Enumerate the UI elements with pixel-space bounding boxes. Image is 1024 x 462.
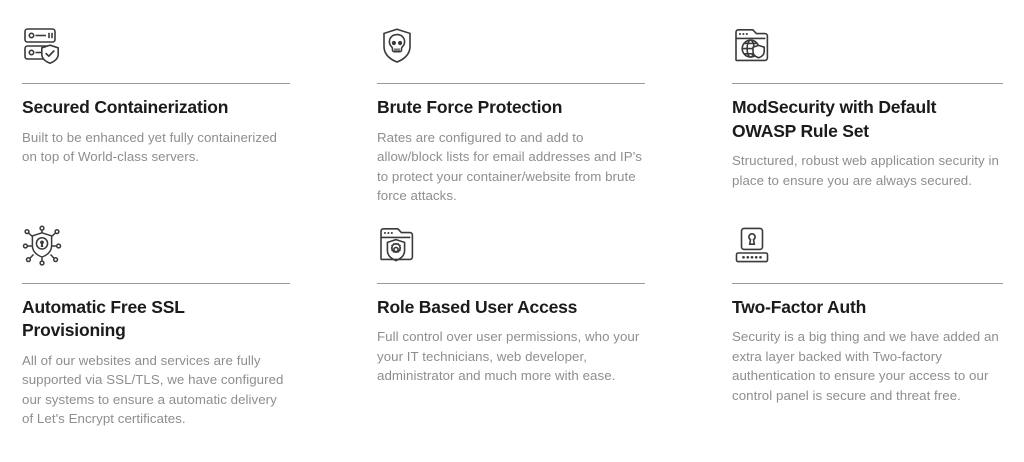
feature-body: All of our websites and services are ful… xyxy=(22,351,290,429)
feature-card-modsecurity-owasp: ModSecurity with Default OWASP Rule Set … xyxy=(732,22,1003,206)
feature-title: Brute Force Protection xyxy=(377,96,645,120)
shield-skull-icon xyxy=(377,26,645,72)
feature-card-automatic-free-ssl: Automatic Free SSL Provisioning All of o… xyxy=(22,206,290,429)
feature-body: Security is a big thing and we have adde… xyxy=(732,327,1003,405)
feature-body: Built to be enhanced yet fully container… xyxy=(22,128,290,167)
browser-globe-shield-icon xyxy=(732,26,1003,72)
card-divider xyxy=(22,83,290,84)
feature-card-brute-force-protection: Brute Force Protection Rates are configu… xyxy=(377,22,645,206)
card-divider xyxy=(732,283,1003,284)
feature-title: ModSecurity with Default OWASP Rule Set xyxy=(732,96,1003,143)
circuit-shield-lock-icon xyxy=(22,225,290,271)
card-divider xyxy=(377,283,645,284)
card-divider xyxy=(22,283,290,284)
feature-title: Two-Factor Auth xyxy=(732,296,1003,320)
feature-card-two-factor-auth: Two-Factor Auth Security is a big thing … xyxy=(732,206,1003,429)
feature-body: Rates are configured to and add to allow… xyxy=(377,128,645,206)
card-divider xyxy=(377,83,645,84)
feature-title: Automatic Free SSL Provisioning xyxy=(22,296,290,343)
feature-card-secured-containerization: Secured Containerization Built to be enh… xyxy=(22,22,290,206)
feature-card-role-based-user-access: Role Based User Access Full control over… xyxy=(377,206,645,429)
server-shield-check-icon xyxy=(22,26,290,72)
feature-body: Structured, robust web application secur… xyxy=(732,151,1003,190)
card-divider xyxy=(732,83,1003,84)
feature-title: Role Based User Access xyxy=(377,296,645,320)
padlock-keypad-icon xyxy=(732,225,1003,271)
feature-body: Full control over user permissions, who … xyxy=(377,327,645,386)
features-grid: Secured Containerization Built to be enh… xyxy=(0,0,1024,429)
browser-shield-gear-icon xyxy=(377,225,645,271)
feature-title: Secured Containerization xyxy=(22,96,290,120)
